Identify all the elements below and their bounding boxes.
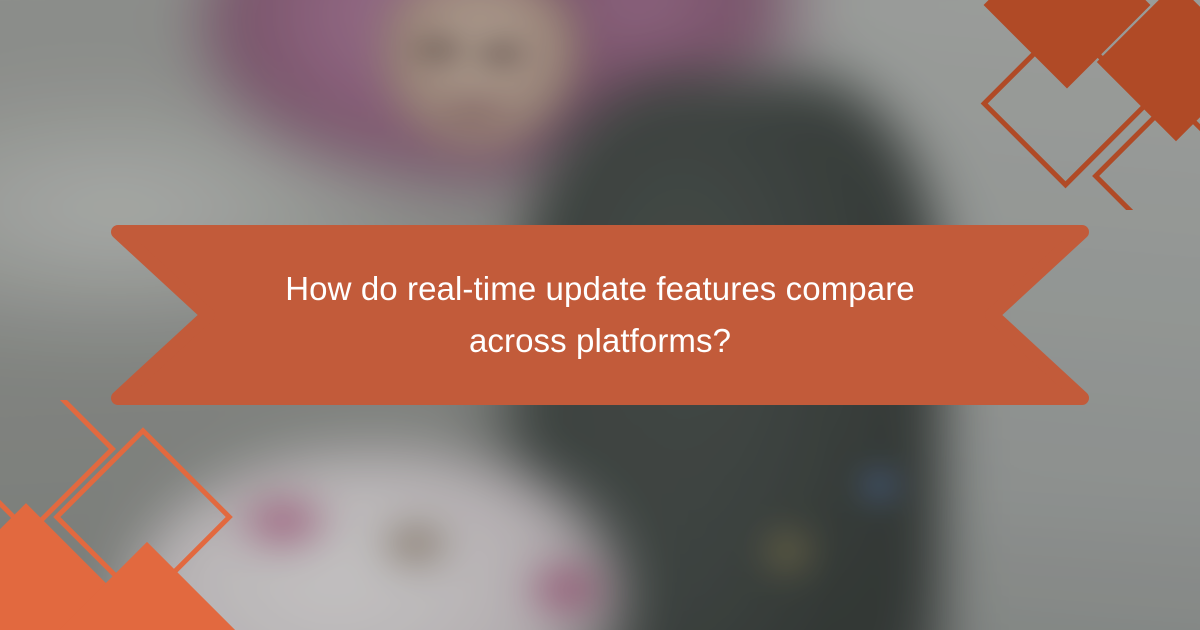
ribbon-headline: How do real-time update features compare…: [104, 225, 1096, 405]
share-card: How do real-time update features compare…: [0, 0, 1200, 630]
ribbon-headline-line-1: How do real-time update features compare: [285, 263, 915, 315]
ribbon-headline-line-2: across platforms?: [469, 315, 731, 367]
headline-ribbon: How do real-time update features compare…: [104, 225, 1096, 405]
